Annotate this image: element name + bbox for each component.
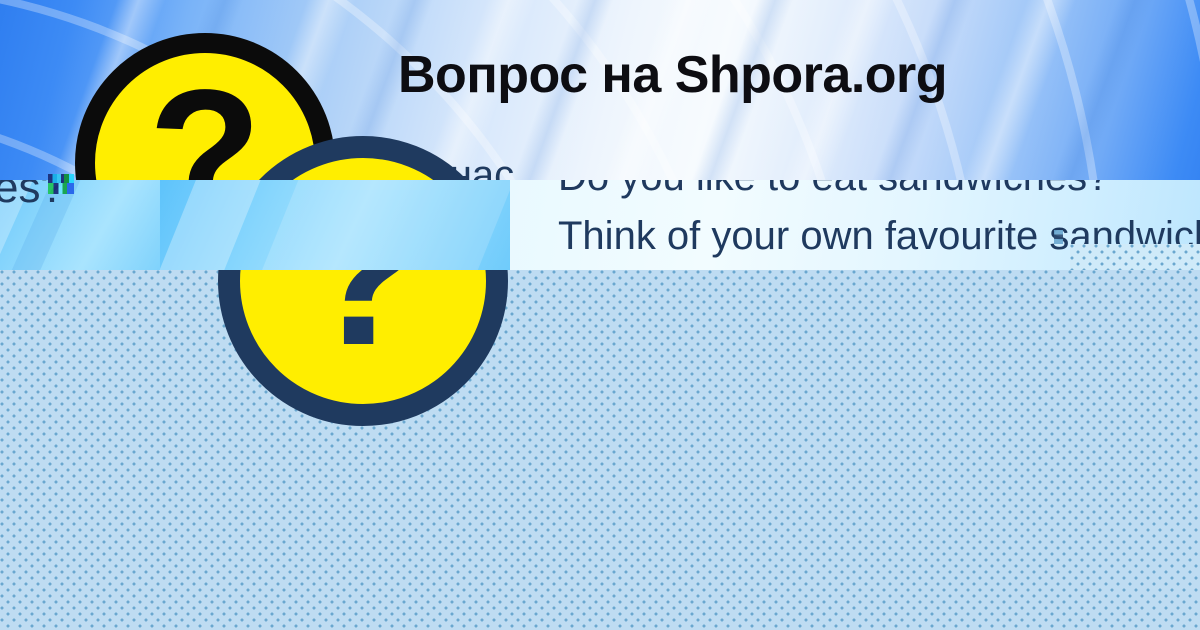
dot-overlay-patch xyxy=(1070,244,1200,270)
body-line-1: Do you like to eat sandwiches? xyxy=(558,180,1200,207)
overlay-left-slab: es? xyxy=(0,180,160,270)
render-artifact-pixels-secondary xyxy=(1054,230,1063,244)
misaligned-overlay-panel: es? Do you like to eat sandwiches? Think… xyxy=(0,180,1200,270)
overlay-mid-slab xyxy=(160,180,510,270)
preview-card-canvas: ? Вопрос на Shpora.org Ценас ? es? Do yo… xyxy=(0,0,1200,630)
page-title: Вопрос на Shpora.org xyxy=(398,46,1158,104)
render-artifact-pixels xyxy=(48,174,74,194)
dotted-background-field xyxy=(0,270,1200,630)
